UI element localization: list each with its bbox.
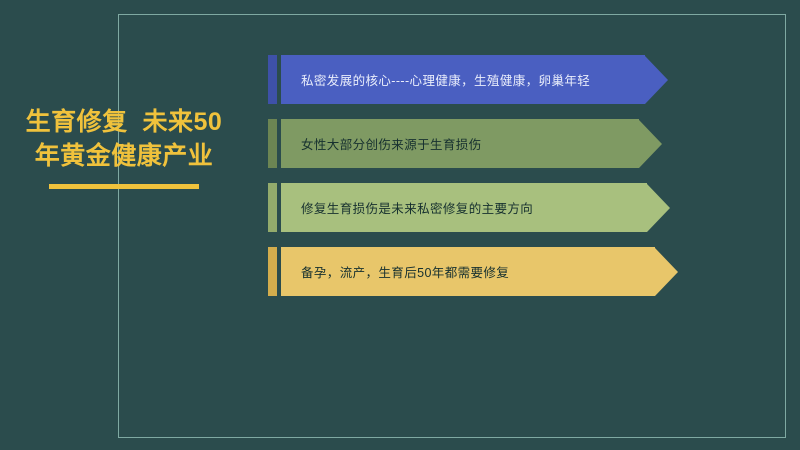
title-block: 生育修复 未来50年黄金健康产业: [24, 105, 224, 189]
arrow-tip: [645, 56, 668, 104]
row-arrow-shape: 私密发展的核心----心理健康，生殖健康，卵巢年轻: [281, 55, 668, 104]
row-label: 私密发展的核心----心理健康，生殖健康，卵巢年轻: [281, 55, 645, 104]
list-item[interactable]: 修复生育损伤是未来私密修复的主要方向: [268, 183, 698, 232]
row-label: 备孕，流产，生育后50年都需要修复: [281, 247, 655, 296]
arrow-tip: [639, 120, 662, 168]
row-label: 修复生育损伤是未来私密修复的主要方向: [281, 183, 647, 232]
row-accent-bar: [268, 119, 277, 168]
slide-canvas: 生育修复 未来50年黄金健康产业 私密发展的核心----心理健康，生殖健康，卵巢…: [0, 0, 800, 450]
page-title: 生育修复 未来50年黄金健康产业: [24, 105, 224, 173]
list-item[interactable]: 备孕，流产，生育后50年都需要修复: [268, 247, 698, 296]
row-arrow-shape: 修复生育损伤是未来私密修复的主要方向: [281, 183, 670, 232]
arrow-tip: [655, 248, 678, 296]
row-arrow-shape: 备孕，流产，生育后50年都需要修复: [281, 247, 678, 296]
row-accent-bar: [268, 55, 277, 104]
arrow-list: 私密发展的核心----心理健康，生殖健康，卵巢年轻 女性大部分创伤来源于生育损伤…: [268, 55, 698, 311]
list-item[interactable]: 女性大部分创伤来源于生育损伤: [268, 119, 698, 168]
title-underline: [49, 184, 199, 189]
list-item[interactable]: 私密发展的核心----心理健康，生殖健康，卵巢年轻: [268, 55, 698, 104]
arrow-tip: [647, 184, 670, 232]
row-accent-bar: [268, 247, 277, 296]
row-arrow-shape: 女性大部分创伤来源于生育损伤: [281, 119, 662, 168]
row-label: 女性大部分创伤来源于生育损伤: [281, 119, 639, 168]
row-accent-bar: [268, 183, 277, 232]
